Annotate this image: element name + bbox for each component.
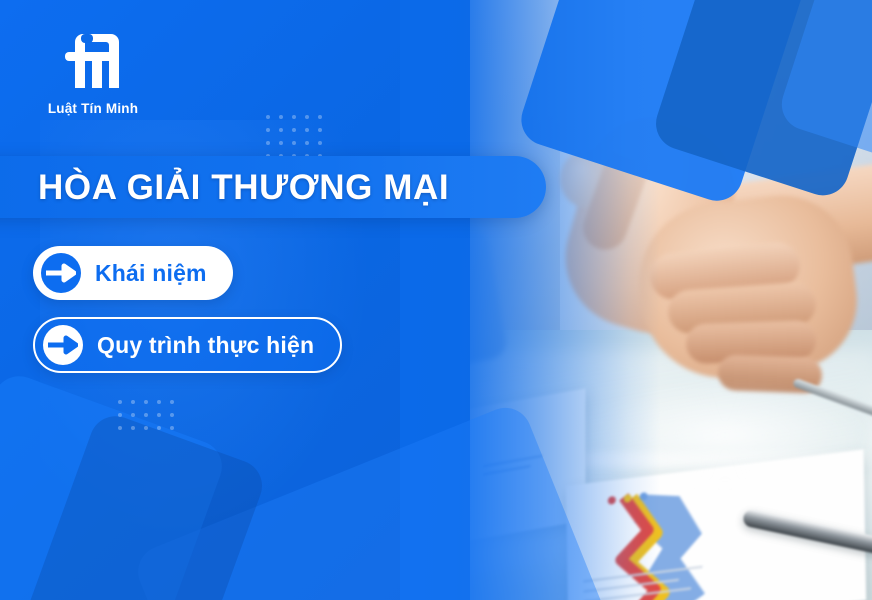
dot-grid-top [266, 115, 322, 158]
banner-item-khai-niem[interactable]: Khái niệm [33, 246, 233, 300]
brand-logo[interactable]: Luật Tín Minh [33, 30, 153, 116]
brand-name: Luật Tín Minh [33, 101, 153, 116]
banner-item-label: Quy trình thực hiện [97, 332, 314, 359]
banner-item-label: Khái niệm [95, 260, 207, 287]
dot-grid-bottom [118, 400, 174, 430]
arrow-right-glyph [48, 335, 78, 355]
arrow-right-circle-icon [43, 325, 83, 365]
page-title: HÒA GIẢI THƯƠNG MẠI [38, 170, 449, 205]
tin-minh-pillar-logo-icon [61, 30, 125, 92]
arrow-right-circle-icon [41, 253, 81, 293]
banner-item-quy-trinh-thuc-hien[interactable]: Quy trình thực hiện [33, 317, 342, 373]
arrow-right-glyph [46, 263, 76, 283]
title-banner: HÒA GIẢI THƯƠNG MẠI [0, 156, 546, 218]
logo-glyph [61, 30, 125, 92]
banner-canvas: Luật Tín Minh HÒA GIẢI THƯƠNG MẠI Khái n… [0, 0, 872, 600]
